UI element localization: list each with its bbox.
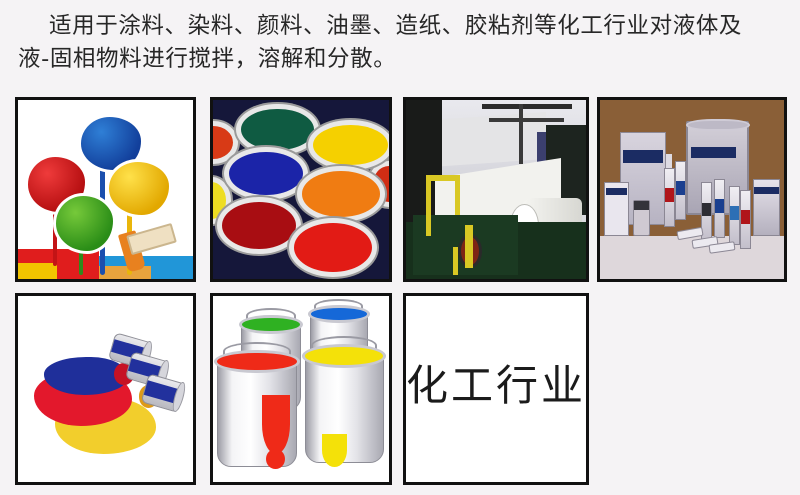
mill-safety-rail-4 — [465, 225, 472, 268]
industry-label-text: 化工行业 — [406, 365, 586, 407]
panel-paint-pouring[interactable] — [15, 97, 196, 282]
mill-safety-rail-3 — [455, 175, 460, 214]
product-cartridge-6 — [740, 190, 751, 249]
pigment-pail-red — [289, 218, 377, 277]
pigment-pail-blue — [224, 147, 308, 201]
page-title-line1: 适用于涂料、染料、颜料、油墨、造纸、胶粘剂等化工行业对液体及 — [18, 13, 742, 39]
mill-ceiling-beam — [482, 104, 572, 109]
panel-paper-mill[interactable] — [403, 97, 589, 282]
panel-adhesive-products[interactable] — [597, 97, 787, 282]
gallery-cell-paper-mill[interactable] — [403, 97, 589, 282]
panel-spilled-cans[interactable] — [15, 293, 196, 485]
cartridge-band — [741, 210, 750, 224]
paint-can-yellow — [106, 159, 173, 218]
product-cartridge-4 — [714, 179, 725, 238]
product-can-right — [753, 179, 781, 236]
gallery-cell-paint-pouring[interactable] — [15, 97, 196, 282]
panel-empty — [597, 293, 787, 485]
adhesive-products-illustration — [600, 100, 784, 279]
paint-pouring-illustration — [18, 100, 193, 279]
cartridge-band — [715, 199, 724, 213]
overflow-buckets-illustration — [213, 296, 389, 482]
paper-mill-illustration — [406, 100, 586, 279]
cartridge-band — [702, 203, 711, 217]
product-pail-rim — [686, 119, 750, 131]
product-label-band — [754, 187, 778, 194]
paint-brush-handle — [126, 223, 177, 255]
pigment-pail-yellow — [308, 120, 389, 170]
panel-pigment-buckets[interactable] — [210, 97, 392, 282]
cartridge-band — [665, 188, 674, 202]
pigment-buckets-illustration — [213, 100, 389, 279]
cartridge-band — [676, 181, 685, 195]
product-cartridge-2 — [675, 161, 686, 220]
gallery-cell-empty — [597, 293, 787, 485]
product-label-band — [691, 147, 737, 159]
page-title-line2: 液-固相物料进行搅拌，溶解和分散。 — [18, 46, 396, 72]
mill-safety-rail-5 — [453, 247, 458, 276]
panel-overflow-buckets[interactable] — [210, 293, 392, 485]
product-jar — [633, 200, 650, 236]
product-cartridge-1 — [664, 168, 675, 227]
page-title: 适用于涂料、染料、颜料、油墨、造纸、胶粘剂等化工行业对液体及 液-固相物料进行搅… — [0, 10, 800, 76]
product-label-band — [606, 188, 628, 194]
cartridge-band — [730, 206, 739, 220]
paint-drip-yellow — [322, 434, 347, 467]
mill-safety-rail-1 — [426, 175, 431, 236]
product-jar-cap — [634, 201, 649, 210]
mill-support-post — [519, 104, 523, 165]
gallery-cell-adhesive-products[interactable] — [597, 97, 787, 282]
mill-safety-rail-2 — [426, 175, 458, 180]
product-carton-small — [604, 182, 630, 236]
gallery-row-1 — [15, 97, 785, 282]
product-label-band — [623, 150, 663, 164]
bucket-paint-surface — [239, 315, 302, 334]
product-cartridge-5 — [729, 186, 740, 245]
spilled-cans-illustration — [18, 296, 193, 482]
gallery-cell-pigment-buckets[interactable] — [210, 97, 392, 282]
floor-stripe-yellow — [18, 263, 57, 279]
gallery-cell-spilled-cans[interactable] — [15, 293, 196, 485]
mill-ceiling-beam-secondary — [489, 118, 565, 122]
gallery-row-2: 化工行业 — [15, 293, 785, 485]
bucket-paint-surface — [308, 305, 370, 323]
pigment-pail-orange — [297, 166, 385, 221]
paint-can-green — [53, 193, 116, 254]
floor-stripe-orange — [99, 266, 152, 279]
paint-droplet-red — [266, 449, 285, 469]
gallery-cell-industry-label[interactable]: 化工行业 — [403, 293, 589, 485]
gallery-cell-overflow-buckets[interactable] — [210, 293, 392, 485]
image-gallery: 化工行业 — [15, 97, 785, 485]
panel-industry-label[interactable]: 化工行业 — [403, 293, 589, 485]
